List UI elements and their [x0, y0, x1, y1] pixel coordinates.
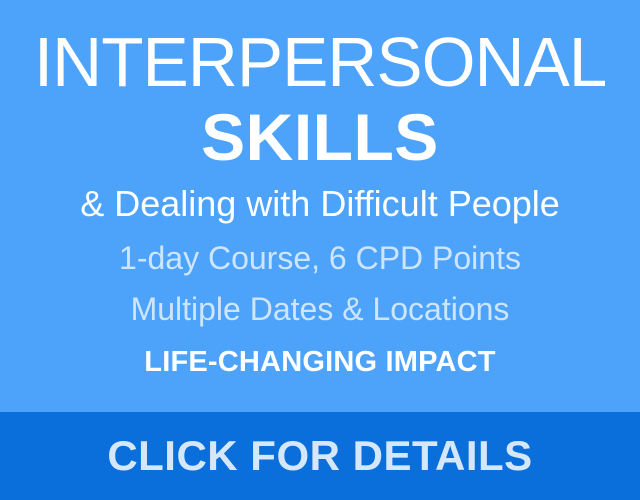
click-for-details-button[interactable]: CLICK FOR DETAILS — [0, 412, 640, 500]
course-detail-dates-locations: Multiple Dates & Locations — [131, 291, 510, 327]
course-detail-duration-cpd: 1-day Course, 6 CPD Points — [119, 240, 521, 276]
headline-primary-line-1: INTERPERSONAL — [34, 26, 606, 98]
cta-button-label: CLICK FOR DETAILS — [107, 434, 532, 478]
advertisement-banner[interactable]: INTERPERSONAL SKILLS & Dealing with Diff… — [0, 0, 640, 500]
banner-content: INTERPERSONAL SKILLS & Dealing with Diff… — [0, 0, 640, 412]
headline-primary-line-2: SKILLS — [201, 104, 439, 170]
headline-subtitle: & Dealing with Difficult People — [80, 184, 560, 224]
banner-tagline: LIFE-CHANGING IMPACT — [144, 346, 495, 378]
